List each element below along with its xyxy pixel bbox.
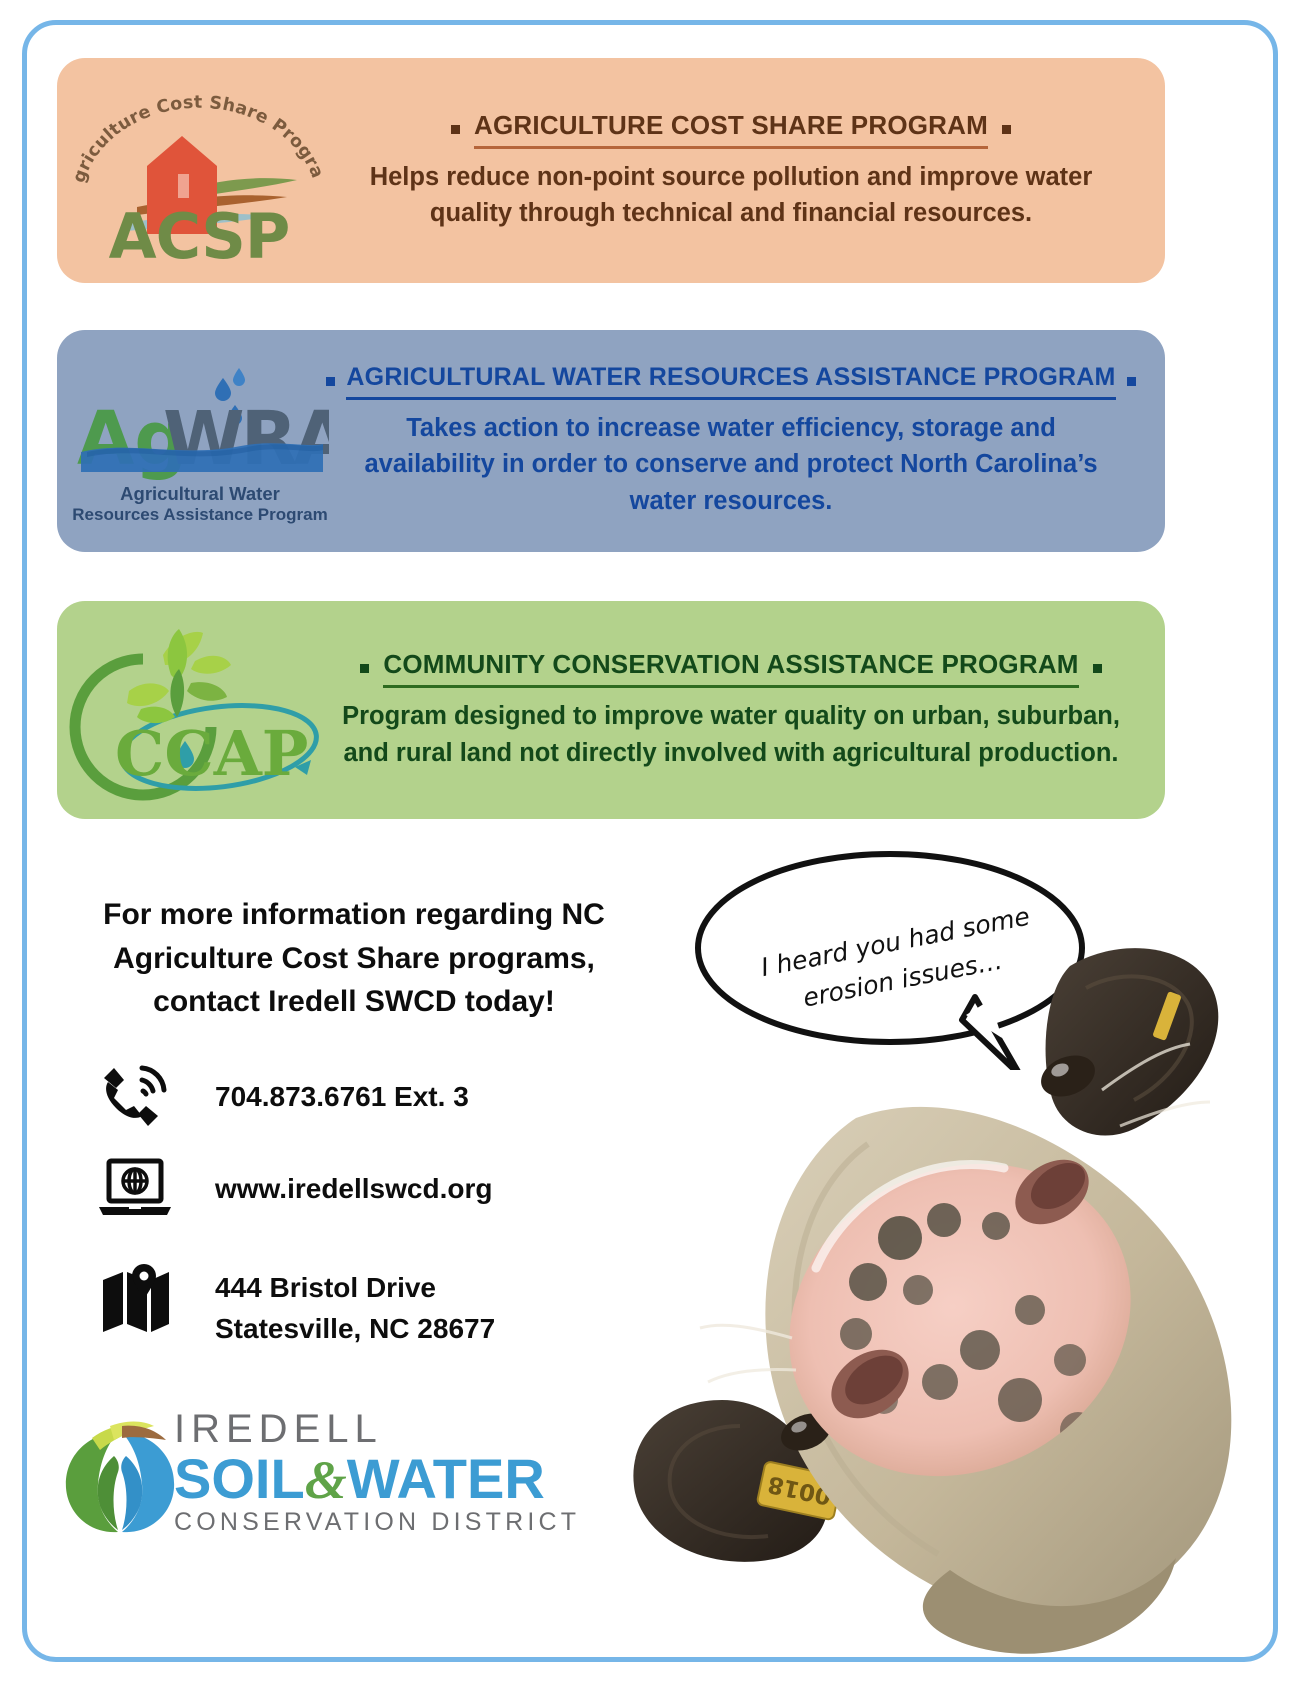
- iredell-word-water: WATER: [347, 1447, 545, 1510]
- acsp-title-row: AGRICULTURE COST SHARE PROGRAM: [325, 110, 1137, 149]
- address-line1: 444 Bristol Drive: [215, 1272, 436, 1303]
- acsp-description: Helps reduce non-point source pollution …: [325, 159, 1137, 231]
- program-panel-ccap: CCAP COMMUNITY CONSERVATION ASSISTANCE P…: [57, 601, 1165, 819]
- acsp-acronym: ACSP: [75, 206, 323, 268]
- iredell-line-iredell: IREDELL: [174, 1408, 604, 1450]
- agwrap-description: Takes action to increase water efficienc…: [325, 410, 1137, 519]
- contact-row-address[interactable]: 444 Bristol Drive Statesville, NC 28677: [93, 1262, 495, 1349]
- iredell-word-amp: &: [305, 1450, 347, 1510]
- ccap-body: COMMUNITY CONSERVATION ASSISTANCE PROGRA…: [325, 649, 1165, 770]
- bullet-square-icon: [1002, 125, 1011, 134]
- agwrap-subtitle: Agricultural Water Resources Assistance …: [71, 483, 329, 525]
- bullet-square-icon: [451, 125, 460, 134]
- address-text[interactable]: 444 Bristol Drive Statesville, NC 28677: [177, 1262, 495, 1349]
- contact-row-website[interactable]: www.iredellswcd.org: [93, 1157, 492, 1221]
- agwrap-logo-container: Ag WRAP Agricultural Water Resources Ass…: [57, 330, 325, 552]
- cow-photo: 0018: [600, 930, 1280, 1682]
- contact-heading-line2: Agriculture Cost Share programs,: [80, 937, 628, 981]
- cow-illustration-icon: 0018: [600, 930, 1280, 1682]
- contact-heading: For more information regarding NC Agricu…: [80, 893, 628, 1024]
- phone-number[interactable]: 704.873.6761 Ext. 3: [177, 1077, 469, 1118]
- ccap-acronym-text: CCAP: [115, 717, 308, 790]
- agwrap-title-row: AGRICULTURAL WATER RESOURCES ASSISTANCE …: [325, 363, 1137, 400]
- bullet-square-icon: [1093, 664, 1102, 673]
- acsp-body: AGRICULTURE COST SHARE PROGRAM Helps red…: [325, 110, 1165, 231]
- agwrap-body: AGRICULTURAL WATER RESOURCES ASSISTANCE …: [325, 363, 1165, 519]
- acsp-title: AGRICULTURE COST SHARE PROGRAM: [474, 110, 988, 149]
- contact-heading-line1: For more information regarding NC: [80, 893, 628, 937]
- agwrap-subtitle-line1: Agricultural Water: [71, 483, 329, 505]
- address-line2: Statesville, NC 28677: [215, 1313, 495, 1344]
- iredell-swcd-logo: IREDELL SOIL&WATER CONSERVATION DISTRICT: [56, 1408, 556, 1578]
- ccap-logo: CCAP: [67, 617, 329, 807]
- iredell-leaf-mark-icon: [56, 1416, 184, 1544]
- ccap-title: COMMUNITY CONSERVATION ASSISTANCE PROGRA…: [383, 649, 1078, 688]
- iredell-line-conservation-district: CONSERVATION DISTRICT: [174, 1508, 604, 1537]
- laptop-globe-icon: [93, 1157, 177, 1221]
- agwrap-title: AGRICULTURAL WATER RESOURCES ASSISTANCE …: [346, 363, 1115, 400]
- map-pin-icon: [93, 1262, 177, 1334]
- program-panel-agwrap: Ag WRAP Agricultural Water Resources Ass…: [57, 330, 1165, 552]
- acsp-logo: Agriculture Cost Share Program ACSP: [75, 74, 323, 270]
- ccap-title-row: COMMUNITY CONSERVATION ASSISTANCE PROGRA…: [325, 649, 1137, 688]
- iredell-wordmark: IREDELL SOIL&WATER CONSERVATION DISTRICT: [174, 1408, 604, 1537]
- contact-row-phone[interactable]: 704.873.6761 Ext. 3: [93, 1064, 469, 1130]
- website-url[interactable]: www.iredellswcd.org: [177, 1169, 492, 1210]
- agwrap-wordmark-icon: Ag WRAP: [71, 360, 329, 480]
- agwrap-subtitle-line2: Resources Assistance Program: [71, 505, 329, 525]
- bullet-square-icon: [360, 664, 369, 673]
- contact-heading-line3: contact Iredell SWCD today!: [80, 980, 628, 1024]
- program-panel-acsp: Agriculture Cost Share Program ACSP AGRI…: [57, 58, 1165, 283]
- phone-ringing-icon: [93, 1064, 177, 1130]
- iredell-line-soil-water: SOIL&WATER: [174, 1450, 604, 1508]
- acsp-logo-container: Agriculture Cost Share Program ACSP: [57, 58, 325, 283]
- bullet-square-icon: [1127, 377, 1136, 386]
- agwrap-logo: Ag WRAP Agricultural Water Resources Ass…: [71, 360, 329, 525]
- iredell-word-soil: SOIL: [174, 1447, 305, 1510]
- ccap-logo-container: CCAP: [57, 601, 325, 819]
- ccap-description: Program designed to improve water qualit…: [325, 698, 1137, 770]
- ccap-leaf-icon: CCAP: [67, 617, 329, 807]
